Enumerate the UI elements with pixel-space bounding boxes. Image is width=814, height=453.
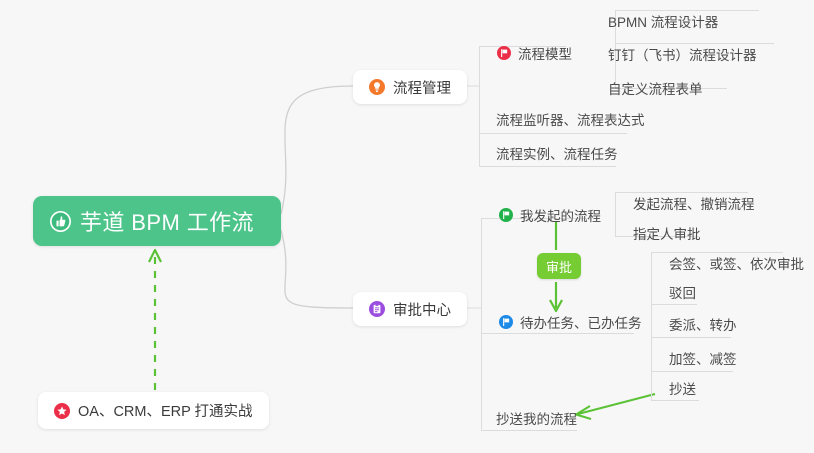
node-my-started-processes[interactable]: 我发起的流程 [493, 202, 607, 228]
rule-listener [479, 133, 627, 134]
rule-delegate [651, 337, 731, 338]
node-countersign-label: 会签、或签、依次审批 [669, 253, 804, 273]
approval-tag[interactable]: 审批 [537, 253, 581, 279]
node-add-remove-sign[interactable]: 加签、减签 [663, 345, 743, 371]
node-my-started-processes-label: 我发起的流程 [520, 205, 601, 225]
arrowhead-integration-up [149, 250, 161, 262]
star-icon [54, 403, 70, 419]
bus-todo-done [651, 252, 652, 400]
node-assignee-approval[interactable]: 指定人审批 [627, 220, 707, 246]
node-bpmn-designer-label: BPMN 流程设计器 [608, 11, 718, 31]
node-process-management[interactable]: 流程管理 [353, 70, 467, 104]
connector-root-to-process-management [281, 86, 353, 214]
connector-root-to-approval-center [281, 230, 353, 308]
node-bpmn-designer[interactable]: BPMN 流程设计器 [602, 8, 724, 34]
bus-process-management [479, 46, 480, 166]
bus-approval-center [481, 218, 482, 430]
arrow-cc-to-my-cc [578, 394, 655, 414]
node-my-cc-processes-label: 抄送我的流程 [496, 408, 577, 428]
node-process-instance[interactable]: 流程实例、流程任务 [490, 140, 624, 166]
node-process-model-label: 流程模型 [518, 43, 572, 63]
integration-card[interactable]: OA、CRM、ERP 打通实战 [38, 392, 269, 429]
flag-icon [499, 208, 513, 222]
flag-icon [499, 315, 513, 329]
node-process-management-label: 流程管理 [393, 77, 451, 98]
approval-tag-label: 审批 [546, 257, 572, 276]
integration-card-label: OA、CRM、ERP 打通实战 [78, 400, 253, 421]
node-countersign[interactable]: 会签、或签、依次审批 [663, 250, 810, 276]
node-my-cc-processes[interactable]: 抄送我的流程 [490, 405, 583, 431]
node-process-model[interactable]: 流程模型 [491, 40, 578, 66]
rule-addsign [651, 371, 733, 372]
node-custom-form-label: 自定义流程表单 [608, 78, 703, 98]
clipboard-icon [369, 301, 385, 317]
node-cc[interactable]: 抄送 [663, 375, 702, 401]
root-node[interactable]: 芋道 BPM 工作流 [33, 196, 281, 246]
node-approval-center[interactable]: 审批中心 [353, 292, 467, 326]
node-start-cancel-process[interactable]: 发起流程、撤销流程 [627, 190, 761, 216]
node-todo-done-tasks[interactable]: 待办任务、已办任务 [493, 309, 648, 335]
node-dingtalk-designer[interactable]: 钉钉（飞书）流程设计器 [602, 41, 763, 67]
node-delegate-transfer[interactable]: 委派、转办 [663, 311, 743, 337]
node-todo-done-tasks-label: 待办任务、已办任务 [520, 312, 642, 332]
rule-instance [479, 166, 616, 167]
flag-icon [497, 46, 511, 60]
node-process-instance-label: 流程实例、流程任务 [496, 143, 618, 163]
node-reject-label: 驳回 [669, 282, 696, 302]
node-process-listener[interactable]: 流程监听器、流程表达式 [490, 106, 651, 132]
node-cc-label: 抄送 [669, 378, 696, 398]
node-custom-form[interactable]: 自定义流程表单 [602, 75, 709, 101]
node-reject[interactable]: 驳回 [663, 279, 702, 305]
bus-my-started [615, 192, 616, 236]
node-assignee-approval-label: 指定人审批 [633, 223, 701, 243]
thumbs-up-icon [50, 211, 71, 232]
node-delegate-transfer-label: 委派、转办 [669, 314, 737, 334]
mindmap-canvas: 芋道 BPM 工作流 流程管理 流程模型 BPMN 流程设计器 钉钉（飞书）流程 [0, 0, 814, 453]
node-add-remove-sign-label: 加签、减签 [669, 348, 737, 368]
root-label: 芋道 BPM 工作流 [80, 205, 254, 237]
node-approval-center-label: 审批中心 [393, 299, 451, 320]
node-start-cancel-process-label: 发起流程、撤销流程 [633, 193, 755, 213]
lightbulb-icon [369, 79, 385, 95]
node-dingtalk-designer-label: 钉钉（飞书）流程设计器 [608, 44, 757, 64]
node-process-listener-label: 流程监听器、流程表达式 [496, 109, 645, 129]
